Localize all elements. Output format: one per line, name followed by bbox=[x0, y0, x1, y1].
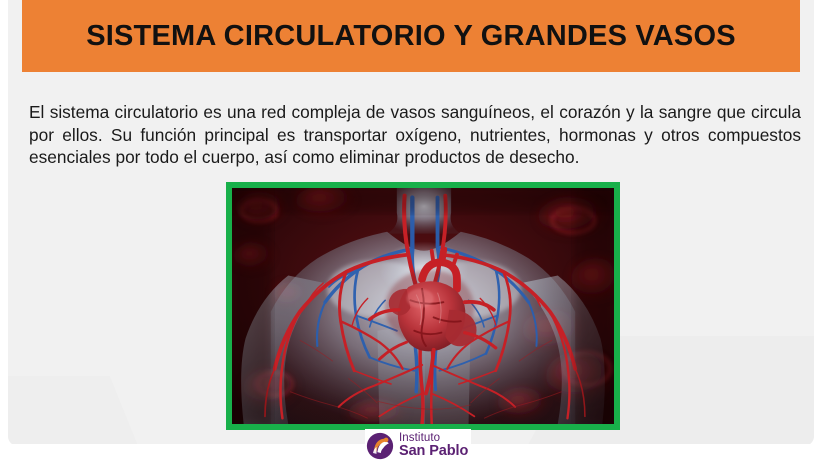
logo-line-san-pablo: San Pablo bbox=[399, 444, 468, 459]
page-title: SISTEMA CIRCULATORIO Y GRANDES VASOS bbox=[86, 22, 736, 51]
instituto-san-pablo-mark bbox=[366, 432, 394, 460]
slide-body-text: El sistema circulatorio es una red compl… bbox=[29, 101, 801, 169]
slide-canvas: SISTEMA CIRCULATORIO Y GRANDES VASOS El … bbox=[8, 0, 814, 446]
slide-title-band: SISTEMA CIRCULATORIO Y GRANDES VASOS bbox=[22, 0, 800, 72]
background-decoration-left bbox=[8, 376, 146, 446]
figure-frame bbox=[226, 182, 620, 430]
human-circulatory-system-illustration bbox=[232, 188, 614, 424]
instituto-san-pablo-logo: Instituto San Pablo bbox=[365, 429, 471, 463]
logo-wordmark: Instituto San Pablo bbox=[399, 433, 468, 460]
